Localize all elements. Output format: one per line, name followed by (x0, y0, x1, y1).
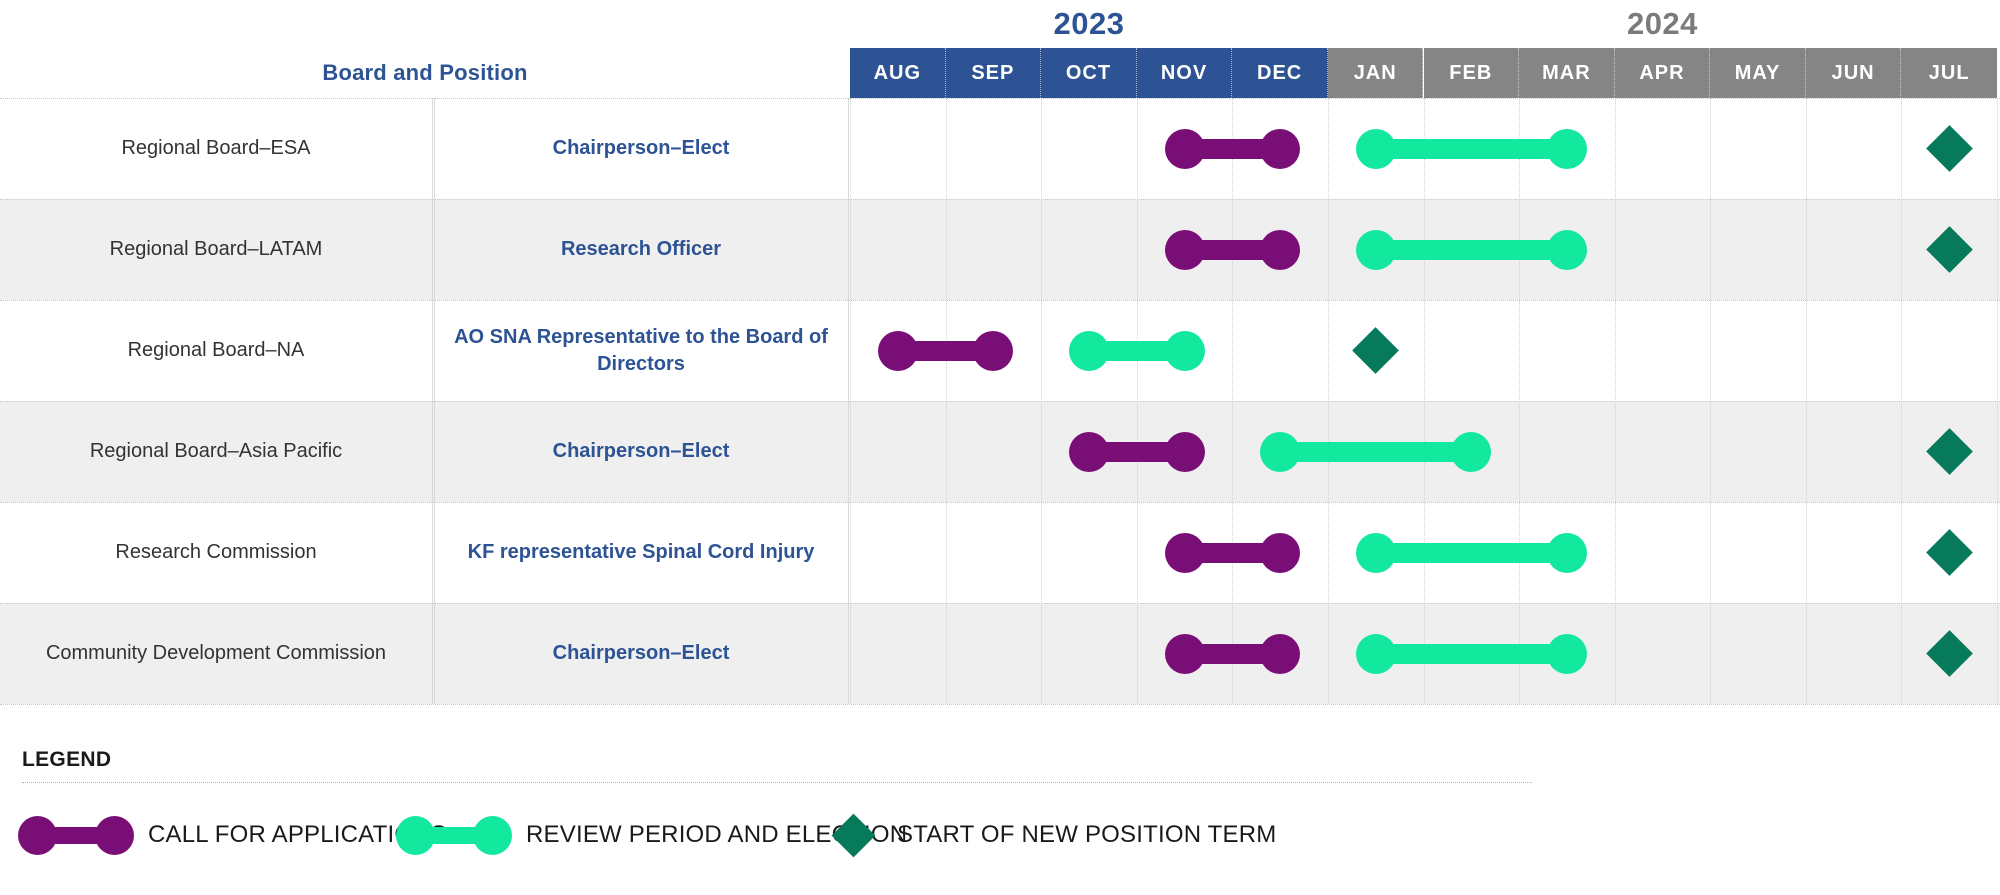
call-for-applications-bar[interactable] (1185, 240, 1281, 260)
bar-start-cap (1356, 230, 1396, 270)
board-name-cell: Community Development Commission (0, 603, 432, 704)
month-gridline (1901, 98, 1902, 704)
month-header-jun: JUN (1806, 48, 1902, 98)
bar-end-cap (1451, 432, 1491, 472)
board-name-cell: Regional Board–LATAM (0, 199, 432, 300)
legend-bar-start-cap (396, 816, 435, 855)
position-name-cell: Chairperson–Elect (434, 98, 848, 199)
bar-end-cap (1260, 230, 1300, 270)
column-divider (432, 98, 433, 704)
row-divider (0, 502, 2000, 503)
legend-bar-swatch-icon (22, 827, 130, 844)
bar-start-cap (1069, 432, 1109, 472)
month-gridline (1328, 98, 1329, 704)
legend-divider (22, 782, 1532, 783)
bar-end-cap (1547, 129, 1587, 169)
bar-start-cap (1165, 129, 1205, 169)
legend-item: CALL FOR APPLICATIONS (22, 811, 447, 859)
position-name-cell: Research Officer (434, 199, 848, 300)
table-row[interactable]: Regional Board–LATAMResearch Officer (0, 199, 2000, 300)
review-period-bar[interactable] (1280, 442, 1471, 462)
bar-end-cap (1165, 432, 1205, 472)
position-name-cell: AO SNA Representative to the Board of Di… (434, 300, 848, 401)
column-divider (434, 98, 435, 704)
year-band: 2023 2024 (0, 0, 2000, 48)
row-divider (0, 98, 2000, 99)
month-header-nov: NOV (1137, 48, 1233, 98)
month-header-feb: FEB (1424, 48, 1520, 98)
review-period-bar[interactable] (1089, 341, 1185, 361)
board-name-cell: Research Commission (0, 502, 432, 603)
legend-bar-swatch-icon (400, 827, 508, 844)
legend-bar-end-cap (95, 816, 134, 855)
month-header-mar: MAR (1519, 48, 1615, 98)
month-gridline (1424, 98, 1425, 704)
column-divider (848, 98, 849, 704)
month-gridline (1232, 98, 1233, 704)
bar-start-cap (1260, 432, 1300, 472)
table-header-row: Board and Position AUGSEPOCTNOVDECJANFEB… (0, 48, 2000, 98)
call-for-applications-bar[interactable] (1089, 442, 1185, 462)
row-divider (0, 199, 2000, 200)
legend-item: START OF NEW POSITION TERM (832, 811, 1276, 859)
board-name-cell: Regional Board–ESA (0, 98, 432, 199)
bar-start-cap (1165, 634, 1205, 674)
review-period-bar[interactable] (1376, 644, 1567, 664)
board-name-cell: Regional Board–NA (0, 300, 432, 401)
legend-label: START OF NEW POSITION TERM (897, 821, 1276, 849)
bar-start-cap (1356, 634, 1396, 674)
month-header-sep: SEP (946, 48, 1042, 98)
month-header-may: MAY (1710, 48, 1806, 98)
month-header-aug: AUG (850, 48, 946, 98)
table-row[interactable]: Regional Board–Asia PacificChairperson–E… (0, 401, 2000, 502)
legend-bar-end-cap (473, 816, 512, 855)
month-gridline (1615, 98, 1616, 704)
board-name-cell: Regional Board–Asia Pacific (0, 401, 432, 502)
bar-end-cap (1547, 533, 1587, 573)
bar-end-cap (1547, 634, 1587, 674)
table-row[interactable]: Research CommissionKF representative Spi… (0, 502, 2000, 603)
bar-start-cap (1356, 129, 1396, 169)
month-gridline (946, 98, 947, 704)
call-for-applications-bar[interactable] (1185, 139, 1281, 159)
month-header-apr: APR (1615, 48, 1711, 98)
table-row[interactable]: Regional Board–ESAChairperson–Elect (0, 98, 2000, 199)
table-row[interactable]: Community Development CommissionChairper… (0, 603, 2000, 704)
legend-bar-start-cap (18, 816, 57, 855)
call-for-applications-bar[interactable] (898, 341, 994, 361)
gantt-grid-body: Regional Board–ESAChairperson–ElectRegio… (0, 98, 2000, 704)
legend-title: LEGEND (22, 748, 1972, 772)
position-name-cell: Chairperson–Elect (434, 401, 848, 502)
row-divider (0, 603, 2000, 604)
bar-end-cap (1260, 129, 1300, 169)
bar-end-cap (1547, 230, 1587, 270)
row-divider (0, 401, 2000, 402)
month-header-jul: JUL (1901, 48, 1997, 98)
month-gridline (1806, 98, 1807, 704)
review-period-bar[interactable] (1376, 543, 1567, 563)
bar-end-cap (1260, 634, 1300, 674)
review-period-bar[interactable] (1376, 240, 1567, 260)
position-name-cell: KF representative Spinal Cord Injury (434, 502, 848, 603)
legend-diamond-swatch-icon (832, 813, 876, 857)
bar-end-cap (1260, 533, 1300, 573)
bar-start-cap (1069, 331, 1109, 371)
bar-end-cap (1165, 331, 1205, 371)
bar-start-cap (1165, 230, 1205, 270)
bar-start-cap (1165, 533, 1205, 573)
page-title: Board and Position (0, 48, 850, 98)
month-header-oct: OCT (1041, 48, 1137, 98)
position-name-cell: Chairperson–Elect (434, 603, 848, 704)
row-divider (0, 704, 2000, 705)
year-label-2023: 2023 (850, 2, 1328, 46)
bar-start-cap (878, 331, 918, 371)
legend: LEGEND CALL FOR APPLICATIONSREVIEW PERIO… (22, 748, 1972, 859)
review-period-bar[interactable] (1376, 139, 1567, 159)
month-gridline (1137, 98, 1138, 704)
month-gridline (1710, 98, 1711, 704)
month-gridline (1041, 98, 1042, 704)
month-gridline (1997, 98, 1998, 704)
call-for-applications-bar[interactable] (1185, 543, 1281, 563)
gantt-timeline-page: 2023 2024 Board and Position AUGSEPOCTNO… (0, 0, 2000, 895)
bar-end-cap (973, 331, 1013, 371)
month-header-dec: DEC (1232, 48, 1328, 98)
month-gridline (850, 98, 851, 704)
call-for-applications-bar[interactable] (1185, 644, 1281, 664)
row-divider (0, 300, 2000, 301)
bar-start-cap (1356, 533, 1396, 573)
month-header-jan: JAN (1328, 48, 1424, 98)
year-label-2024: 2024 (1328, 2, 1997, 46)
month-gridline (1519, 98, 1520, 704)
